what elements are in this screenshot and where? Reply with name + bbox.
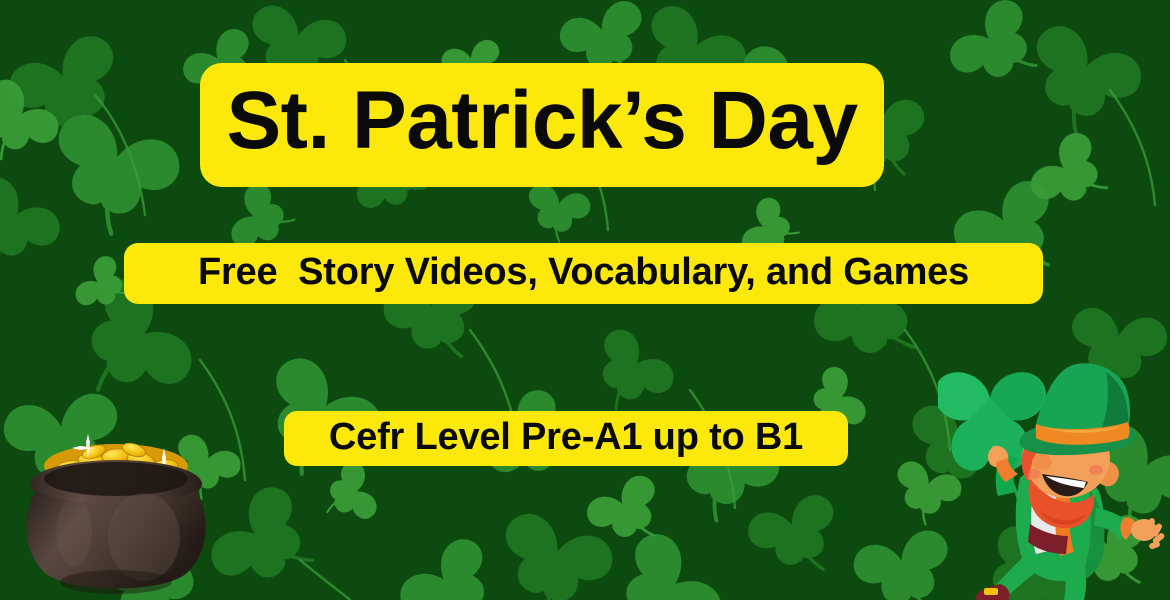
stpatricks-day-poster: St. Patrick’s Day Free Story Videos, Voc… [0,0,1170,600]
leprechaun-illustration [938,358,1170,600]
poster-title-banner: St. Patrick’s Day [200,63,884,187]
poster-cefr-level-banner: Cefr Level Pre-A1 up to B1 [284,411,848,466]
poster-subtitle-banner: Free Story Videos, Vocabulary, and Games [124,243,1043,304]
pot-of-gold-illustration [14,432,219,600]
